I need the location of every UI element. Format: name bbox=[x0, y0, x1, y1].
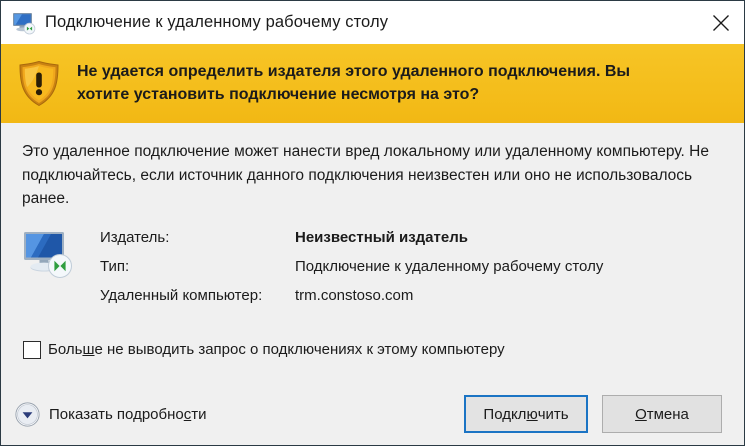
close-icon[interactable] bbox=[698, 1, 744, 44]
field-row-remote-computer: Удаленный компьютер: trm.constoso.com bbox=[100, 287, 722, 304]
dialog-footer: Показать подробности Подключить Отмена bbox=[1, 383, 744, 445]
remote-computer-icon bbox=[23, 229, 73, 279]
warning-banner: Не удается определить издателя этого уда… bbox=[1, 44, 744, 123]
banner-message-line1: Не удается определить издателя этого уда… bbox=[77, 61, 630, 84]
field-row-type: Тип: Подключение к удаленному рабочему с… bbox=[100, 258, 722, 275]
show-details-label[interactable]: Показать подробности bbox=[49, 406, 206, 423]
banner-message-line2: хотите установить подключение несмотря н… bbox=[77, 84, 630, 107]
show-details-label-before: Показать подробно bbox=[49, 406, 184, 423]
cancel-button[interactable]: Отмена bbox=[602, 395, 722, 433]
title-bar: Подключение к удаленному рабочему столу bbox=[1, 1, 744, 44]
intro-text: Это удаленное подключение может нанести … bbox=[22, 140, 722, 211]
show-details-toggle[interactable]: Показать подробности bbox=[15, 402, 206, 427]
dont-ask-again-checkbox[interactable] bbox=[23, 341, 41, 359]
field-label-remote-computer: Удаленный компьютер: bbox=[100, 287, 295, 304]
warning-shield-icon bbox=[17, 60, 61, 107]
dont-ask-again-label-before: Боль bbox=[48, 341, 82, 358]
dialog-body: Это удаленное подключение может нанести … bbox=[1, 123, 744, 383]
connect-button-label-before: Подкл bbox=[483, 406, 526, 423]
cancel-button-accesskey: О bbox=[635, 406, 647, 423]
remote-desktop-icon bbox=[12, 11, 36, 35]
field-row-publisher: Издатель: Неизвестный издатель bbox=[100, 229, 722, 246]
chevron-down-icon[interactable] bbox=[15, 402, 40, 427]
connect-button-accesskey: ю bbox=[526, 406, 537, 423]
field-value-publisher: Неизвестный издатель bbox=[295, 229, 468, 246]
remote-desktop-warning-dialog: Подключение к удаленному рабочему столу … bbox=[0, 0, 745, 446]
field-list: Издатель: Неизвестный издатель Тип: Подк… bbox=[100, 227, 722, 304]
dont-ask-again-label[interactable]: Больше не выводить запрос о подключениях… bbox=[48, 341, 505, 358]
cancel-button-label-after: тмена bbox=[647, 406, 689, 423]
field-label-type: Тип: bbox=[100, 258, 295, 275]
show-details-label-after: ти bbox=[191, 406, 206, 423]
window-title: Подключение к удаленному рабочему столу bbox=[45, 13, 388, 32]
banner-message: Не удается определить издателя этого уда… bbox=[77, 61, 630, 106]
connect-button-label-after: чить bbox=[538, 406, 569, 423]
field-value-remote-computer: trm.constoso.com bbox=[295, 287, 413, 304]
dont-ask-again-label-after: е не выводить запрос о подключениях к эт… bbox=[94, 341, 504, 358]
connection-details: Издатель: Неизвестный издатель Тип: Подк… bbox=[22, 227, 722, 304]
field-label-publisher: Издатель: bbox=[100, 229, 295, 246]
dont-ask-again-label-accesskey: ш bbox=[82, 341, 94, 358]
connect-button[interactable]: Подключить bbox=[464, 395, 588, 433]
field-value-type: Подключение к удаленному рабочему столу bbox=[295, 258, 603, 275]
dont-ask-again-row[interactable]: Больше не выводить запрос о подключениях… bbox=[23, 341, 722, 359]
